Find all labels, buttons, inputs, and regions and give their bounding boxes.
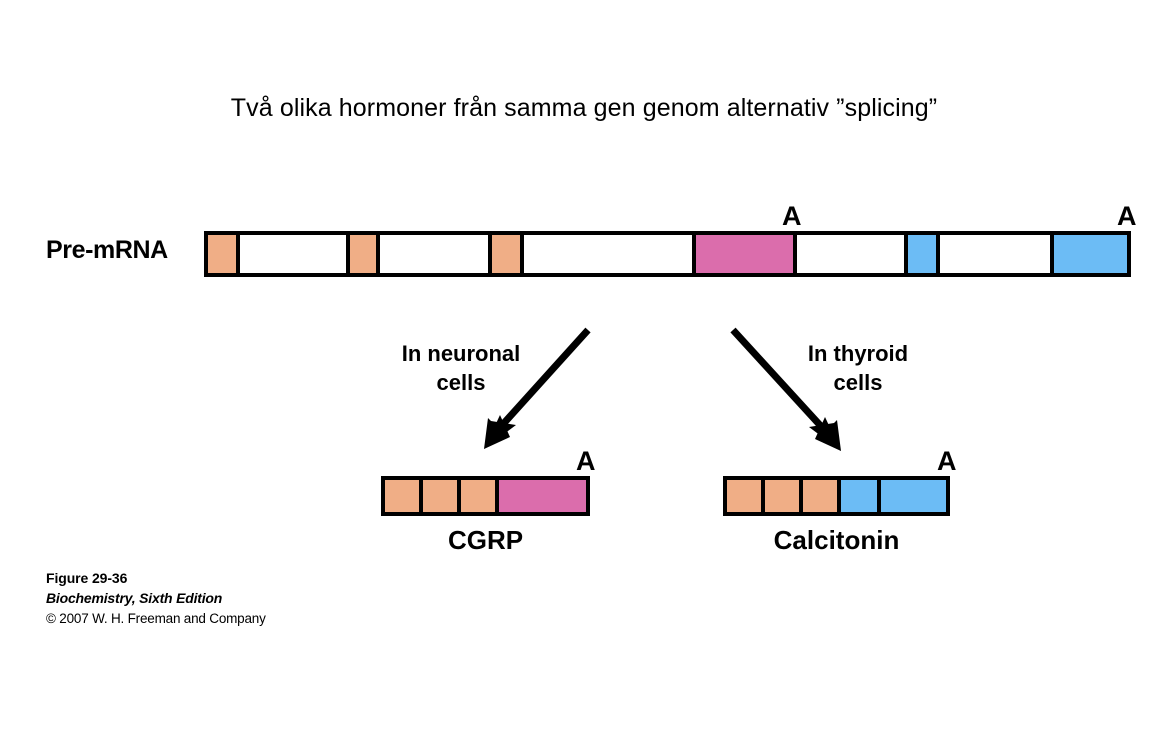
caption-copyright: © 2007 W. H. Freeman and Company: [46, 609, 266, 629]
arrow-to-cgrp-icon: [470, 325, 600, 455]
caption-figure-number: Figure 29-36: [46, 568, 266, 588]
product-name-cgrp: CGRP: [381, 525, 590, 556]
segment-intron-3: [524, 235, 696, 273]
segment-exon-4-cgrp: [696, 235, 798, 273]
segment-exon-6-calcitonin-large: [881, 480, 946, 512]
arrow-to-calcitonin-icon: [725, 325, 855, 455]
segment-exon-6-calcitonin-large: [1054, 235, 1127, 273]
segment-exon-1: [208, 235, 240, 273]
segment-exon-3: [461, 480, 499, 512]
segment-exon-3: [803, 480, 841, 512]
figure-canvas: Två olika hormoner från samma gen genom …: [0, 0, 1168, 740]
cgrp-mrna-bar: [381, 476, 590, 516]
polya-marker-cgrp-product: A: [576, 448, 596, 475]
segment-intron-2: [380, 235, 492, 273]
segment-exon-2: [423, 480, 461, 512]
segment-exon-5-calcitonin-small: [908, 235, 940, 273]
figure-title: Två olika hormoner från samma gen genom …: [0, 94, 1168, 123]
segment-exon-1: [727, 480, 765, 512]
segment-exon-2: [765, 480, 803, 512]
pre-mrna-bar: [204, 231, 1131, 277]
segment-exon-5-calcitonin-small: [841, 480, 881, 512]
segment-intron-1: [240, 235, 351, 273]
segment-intron-4: [797, 235, 908, 273]
caption-book-title: Biochemistry, Sixth Edition: [46, 588, 266, 608]
calcitonin-mrna-bar: [723, 476, 950, 516]
segment-exon-3: [492, 235, 524, 273]
figure-caption: Figure 29-36 Biochemistry, Sixth Edition…: [46, 568, 266, 628]
segment-exon-2: [350, 235, 380, 273]
segment-exon-1: [385, 480, 423, 512]
segment-intron-5: [940, 235, 1055, 273]
pre-mrna-label: Pre-mRNA: [46, 236, 168, 265]
polya-marker-cgrp-site: A: [782, 203, 802, 230]
segment-exon-4-cgrp: [499, 480, 586, 512]
polya-marker-calcitonin-product: A: [937, 448, 957, 475]
polya-marker-calcitonin-site: A: [1117, 203, 1137, 230]
product-name-calcitonin: Calcitonin: [713, 525, 960, 556]
